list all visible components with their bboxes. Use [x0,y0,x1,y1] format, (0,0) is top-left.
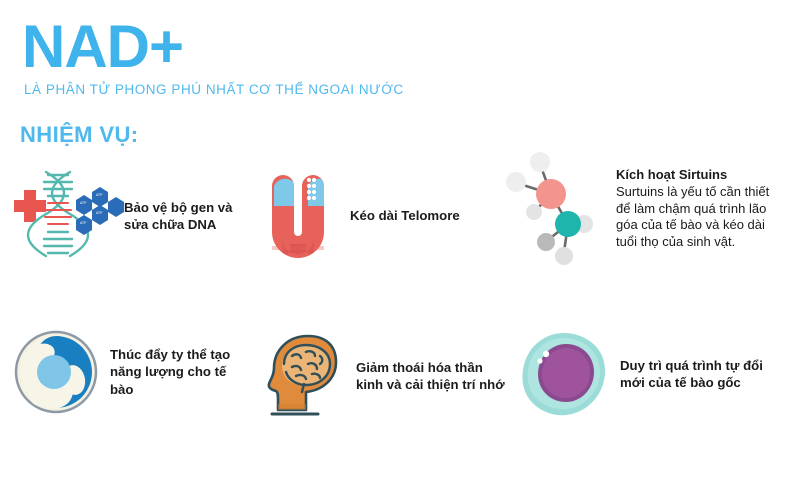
molecule-node-pink [536,179,566,209]
page-subtitle: LÀ PHÂN TỬ PHONG PHÚ NHẤT CƠ THỂ NGOAI N… [24,82,622,97]
mitochondria-cell-icon [14,330,98,414]
benefit-body-sirtuin: Surtuins là yếu tố cần thiết để làm chậm… [616,184,769,250]
benefit-label-dna: Bảo vệ bộ gen và sửa chữa DNA [124,199,232,234]
benefit-body-sirtuin-line1: Surtuins là yếu tố cần thiết [616,184,769,199]
benefit-label-mito-line1: Thúc đẩy ty thể tạo [110,347,230,362]
svg-text:ATP: ATP [80,221,87,225]
benefit-label-brain: Giảm thoái hóa thần kinh và cải thiện tr… [356,359,505,394]
benefit-item-telomere: Kéo dài Telomore [268,172,498,260]
benefit-body-sirtuin-line4: tuổi thọ của sinh vật. [616,234,735,249]
molecule-icon [496,152,604,270]
benefit-label-telomere-line1: Kéo dài Telomore [350,208,460,223]
benefit-label-mito-line3: bào [110,382,133,397]
chromosome-telomere-icon [268,172,328,260]
head-brain-icon [266,334,344,418]
benefit-item-stemcell: Duy trì quá trình tự đổi mới của tế bào … [520,330,800,418]
benefit-item-dna: ATP ATP ATP ATP Bảo vệ bộ gen và sửa chữ… [4,170,254,262]
benefit-label-telomere: Kéo dài Telomore [350,207,460,225]
benefit-label-brain-line1: Giảm thoái hóa thần [356,360,483,375]
dna-helix-icon: ATP ATP ATP ATP [4,170,116,262]
benefit-item-brain: Giảm thoái hóa thần kinh và cải thiện tr… [266,334,516,418]
svg-text:ATP: ATP [96,211,103,215]
benefit-label-mitochondria: Thúc đẩy ty thể tạo năng lượng cho tế bà… [110,346,230,399]
svg-text:ATP: ATP [96,193,103,197]
benefit-heading-sirtuin: Kích hoạt Sirtuins [616,166,769,183]
svg-text:ATP: ATP [80,201,87,205]
benefit-label-dna-line2: sửa chữa DNA [124,217,216,232]
benefit-body-sirtuin-line2: để làm chậm quá trình lão [616,201,766,216]
header: NAD+ LÀ PHÂN TỬ PHONG PHÚ NHẤT CƠ THỂ NG… [22,18,622,97]
benefit-item-sirtuin: Kích hoạt Sirtuins Surtuins là yếu tố cầ… [496,152,796,270]
stem-cell-icon [520,330,608,418]
benefit-text-sirtuin: Kích hoạt Sirtuins Surtuins là yếu tố cầ… [616,152,769,250]
benefit-label-stemcell: Duy trì quá trình tự đổi mới của tế bào … [620,357,763,392]
benefit-label-stem-line2: mới của tế bào gốc [620,375,741,390]
benefit-label-brain-line2: kinh và cải thiện trí nhớ [356,377,505,392]
molecule-nodes [506,152,593,265]
benefit-item-mitochondria: Thúc đẩy ty thể tạo năng lượng cho tế bà… [14,330,264,414]
benefit-body-sirtuin-line3: góa của tế bào và kéo dài [616,217,765,232]
benefit-label-mito-line2: năng lượng cho tế [110,364,226,379]
infographic-page: NAD+ LÀ PHÂN TỬ PHONG PHÚ NHẤT CƠ THỂ NG… [0,0,800,500]
page-title: NAD+ [22,18,622,76]
mitochondria-core [37,355,71,389]
benefit-label-dna-line1: Bảo vệ bộ gen và [124,200,232,215]
section-heading: NHIỆM VỤ: [20,122,139,148]
molecule-node-teal [555,211,581,237]
benefit-label-stem-line1: Duy trì quá trình tự đổi [620,358,763,373]
dna-strand [28,172,88,256]
